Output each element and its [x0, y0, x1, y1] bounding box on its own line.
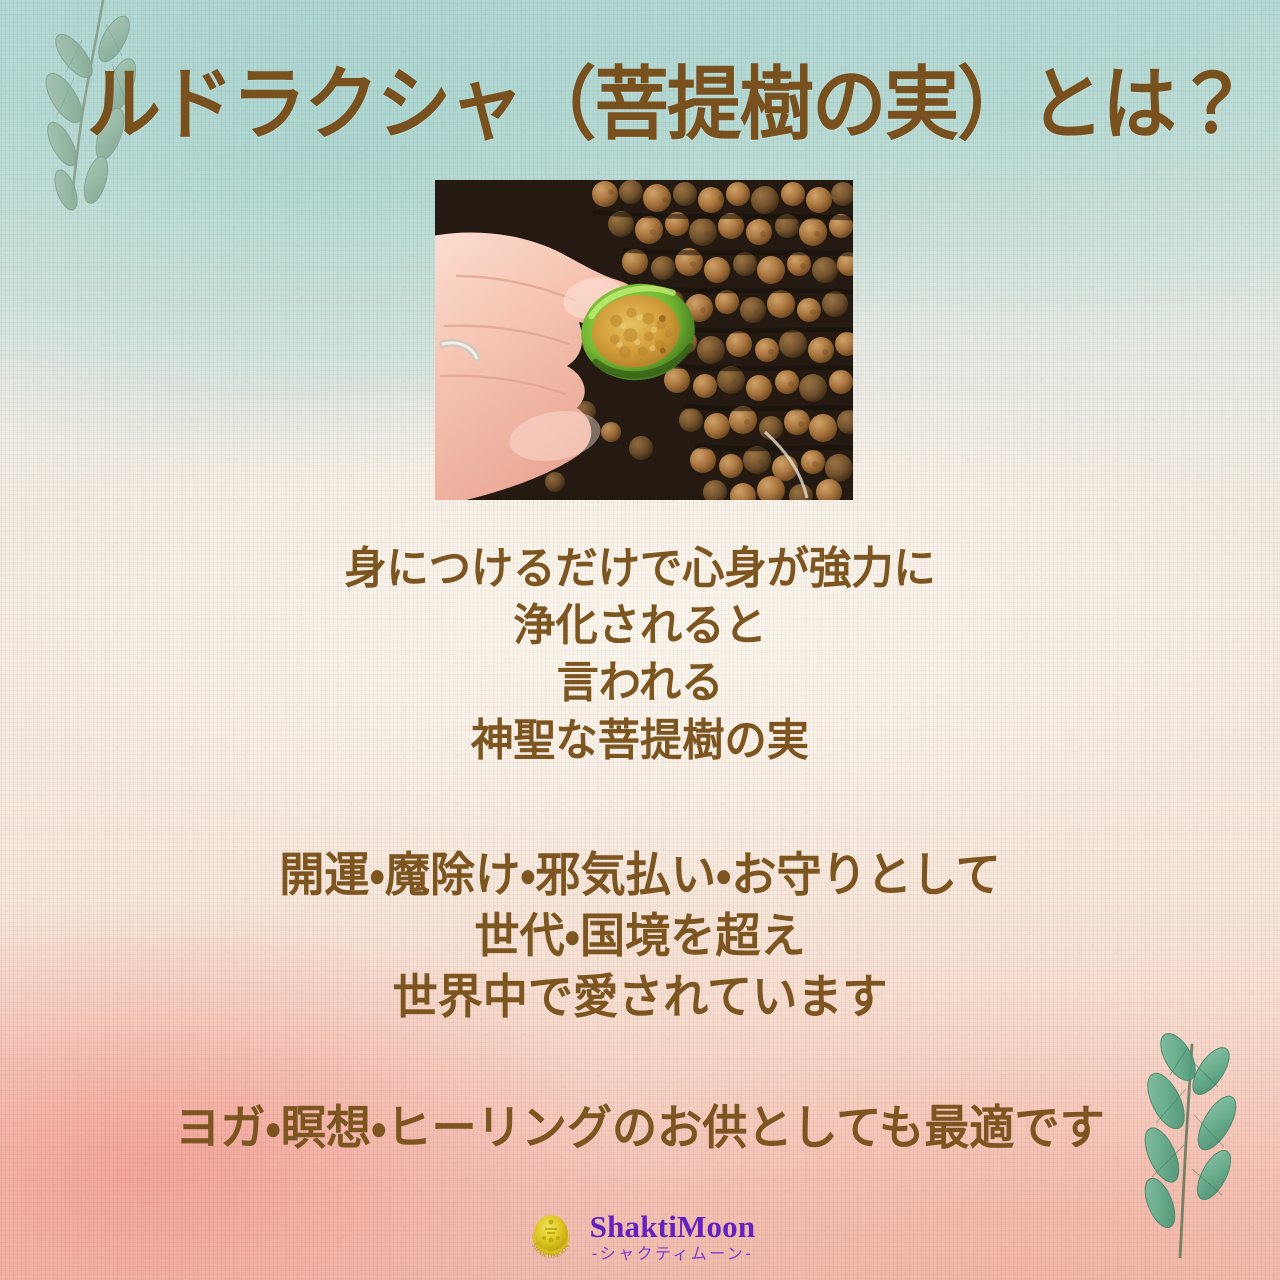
body-text-block-2: 開運・魔除け・邪気払い・お守りとして 世代・国境を超え 世界中で愛されています	[26, 845, 1255, 1028]
page-title: ルドラクシャ（菩提樹の実）とは？	[0, 50, 1280, 160]
body-line: 言われる	[26, 654, 1255, 711]
brand-subtitle: -シャクティムーン-	[592, 1246, 754, 1262]
brand-logo[interactable]: SHAKTIMOON ShaktiMoon -シャクティムーン-	[0, 1210, 1280, 1262]
shaktimoon-emblem-icon: SHAKTIMOON	[525, 1210, 577, 1262]
body-line: 世代・国境を超え	[26, 906, 1255, 967]
body-text-block-3: ヨガ・瞑想・ヒーリングのお供としても最適です	[26, 1098, 1255, 1159]
body-line: 身につけるだけで心身が強力に	[26, 540, 1255, 597]
body-line: 浄化されると	[26, 597, 1255, 654]
brand-logo-text: ShaktiMoon -シャクティムーン-	[590, 1211, 756, 1262]
body-line: 世界中で愛されています	[26, 967, 1255, 1028]
body-line: 開運・魔除け・邪気払い・お守りとして	[26, 845, 1255, 906]
hero-photo	[435, 180, 853, 500]
body-text-block-1: 身につけるだけで心身が強力に 浄化されると 言われる 神聖な菩提樹の実	[26, 540, 1255, 769]
body-line: 神聖な菩提樹の実	[26, 712, 1255, 769]
poster-canvas: ルドラクシャ（菩提樹の実）とは？	[0, 0, 1280, 1280]
brand-name: ShaktiMoon	[590, 1211, 756, 1242]
page-title-text: ルドラクシャ（菩提樹の実）とは？	[87, 65, 1248, 145]
body-line: ヨガ・瞑想・ヒーリングのお供としても最適です	[26, 1098, 1255, 1159]
